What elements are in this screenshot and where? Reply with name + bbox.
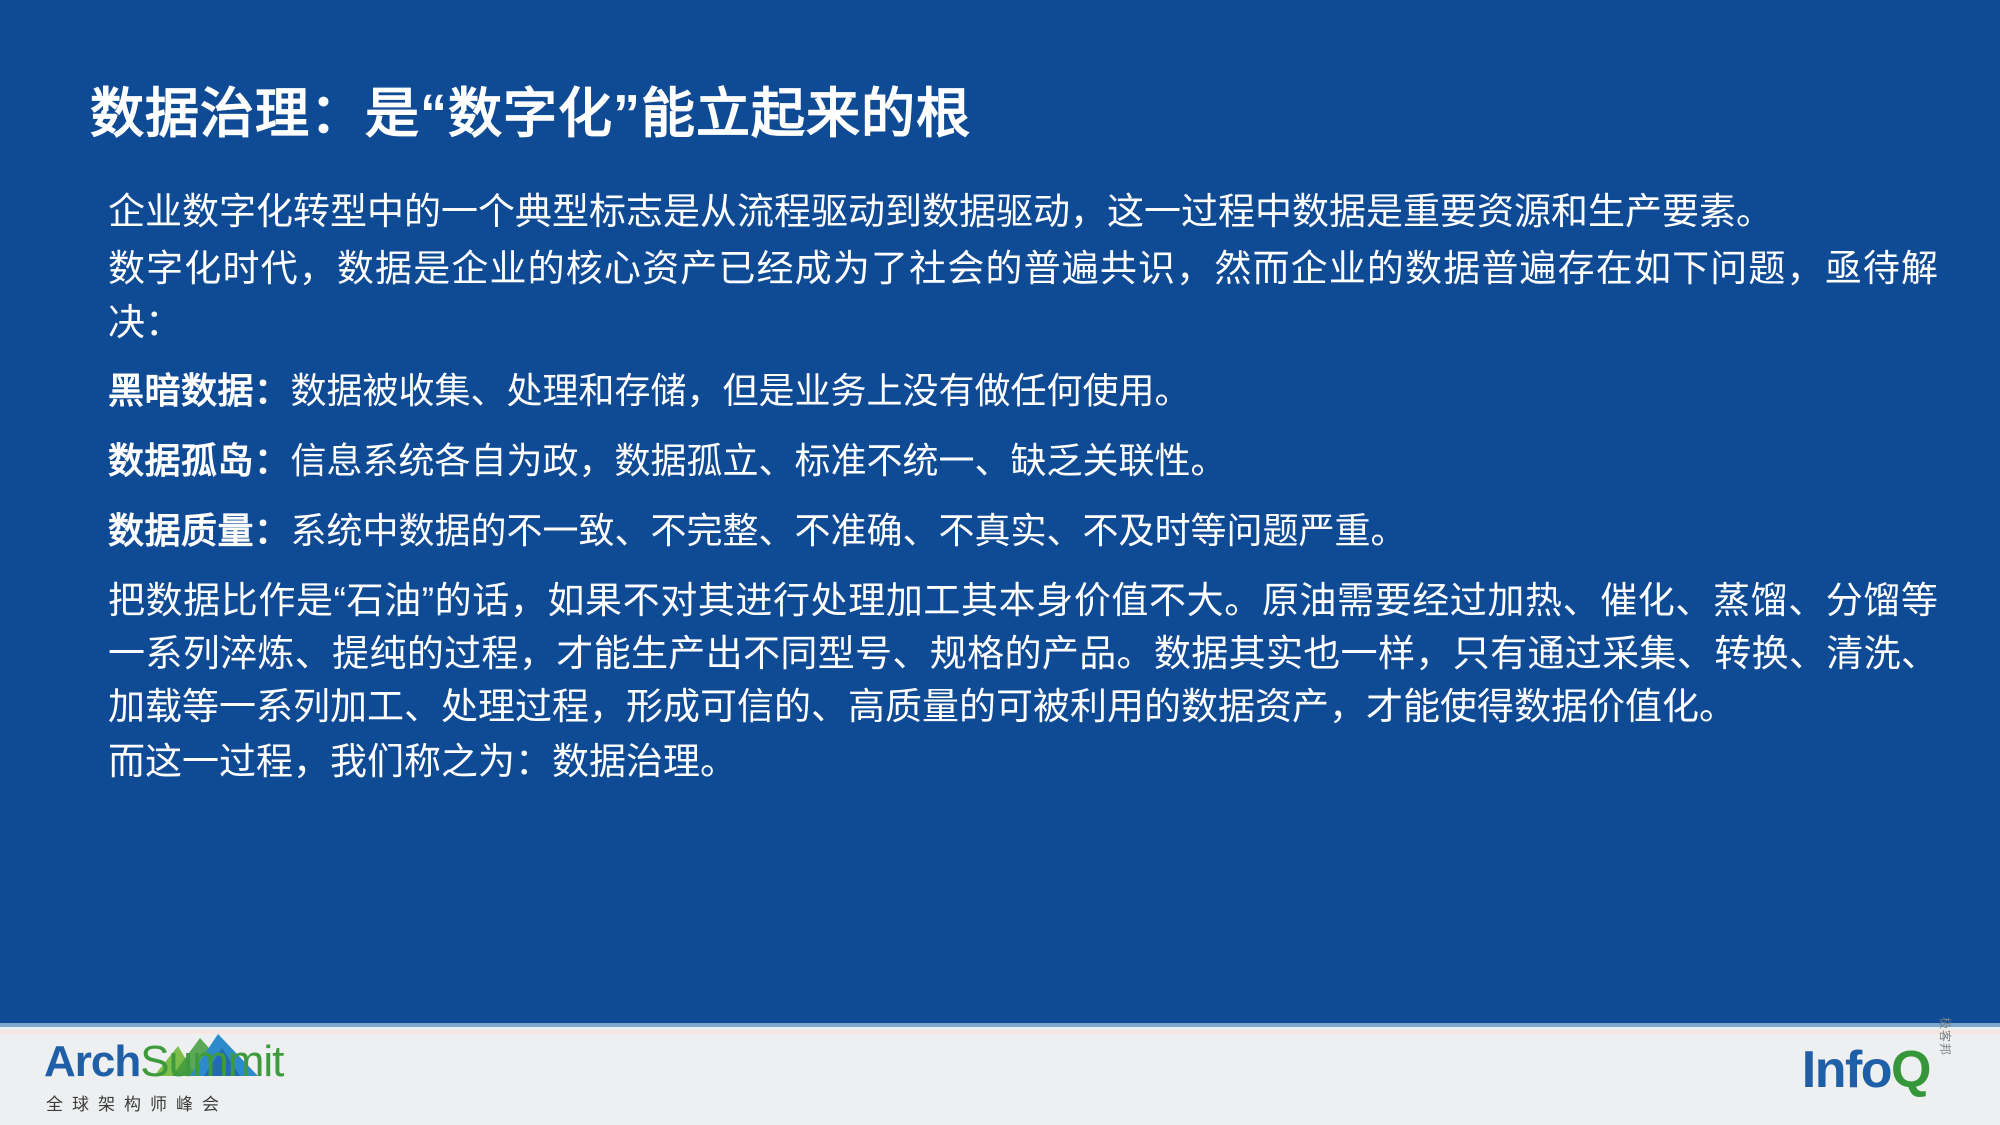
- bullet-data-silo-text: 信息系统各自为政，数据孤立、标准不统一、缺乏关联性。: [291, 440, 1227, 481]
- slide-footer: [0, 1034, 2000, 1125]
- paragraph-2: 数字化时代，数据是企业的核心资产已经成为了社会的普遍共识，然而企业的数据普遍存在…: [108, 242, 1938, 349]
- archsummit-subtitle: 全球架构师峰会: [46, 1090, 228, 1115]
- archsummit-logo: ArchSummit 全球架构师峰会: [44, 1036, 294, 1122]
- infoq-vertical-text: 极客邦: [1937, 1017, 1954, 1056]
- paragraph-3: 把数据比作是“石油”的话，如果不对其进行处理加工其本身价值不大。原油需要经过加热…: [108, 574, 1938, 734]
- bullet-dark-data-text: 数据被收集、处理和存储，但是业务上没有做任何使用。: [291, 370, 1191, 411]
- infoq-logo: InfoQ 极客邦: [1746, 1040, 1956, 1116]
- bullet-dark-data-label: 黑暗数据：: [108, 370, 291, 411]
- paragraph-4: 而这一过程，我们称之为：数据治理。: [108, 733, 1938, 788]
- presentation-slide: 数据治理：是“数字化”能立起来的根 企业数字化转型中的一个典型标志是从流程驱动到…: [0, 0, 2000, 1125]
- bullet-data-quality-label: 数据质量：: [108, 510, 291, 551]
- infoq-word-info: Info: [1802, 1041, 1891, 1099]
- bullet-data-quality-text: 系统中数据的不一致、不完整、不准确、不真实、不及时等问题严重。: [291, 510, 1407, 551]
- infoq-wordmark: InfoQ: [1802, 1044, 1930, 1096]
- slide-content: 企业数字化转型中的一个典型标志是从流程驱动到数据驱动，这一过程中数据是重要资源和…: [108, 185, 1938, 789]
- bullet-dark-data: 黑暗数据：数据被收集、处理和存储，但是业务上没有做任何使用。: [108, 353, 1938, 423]
- archsummit-word-summit: Summit: [140, 1037, 283, 1086]
- bullet-data-silo-label: 数据孤岛：: [108, 440, 291, 481]
- archsummit-wordmark: ArchSummit: [44, 1040, 283, 1084]
- slide-title: 数据治理：是“数字化”能立起来的根: [90, 84, 971, 144]
- bullet-data-quality: 数据质量：系统中数据的不一致、不完整、不准确、不真实、不及时等问题严重。: [108, 493, 1938, 563]
- paragraph-1: 企业数字化转型中的一个典型标志是从流程驱动到数据驱动，这一过程中数据是重要资源和…: [108, 185, 1938, 238]
- bullet-data-silo: 数据孤岛：信息系统各自为政，数据孤立、标准不统一、缺乏关联性。: [108, 423, 1938, 493]
- archsummit-word-arch: Arch: [44, 1037, 140, 1086]
- infoq-word-q: Q: [1891, 1041, 1930, 1099]
